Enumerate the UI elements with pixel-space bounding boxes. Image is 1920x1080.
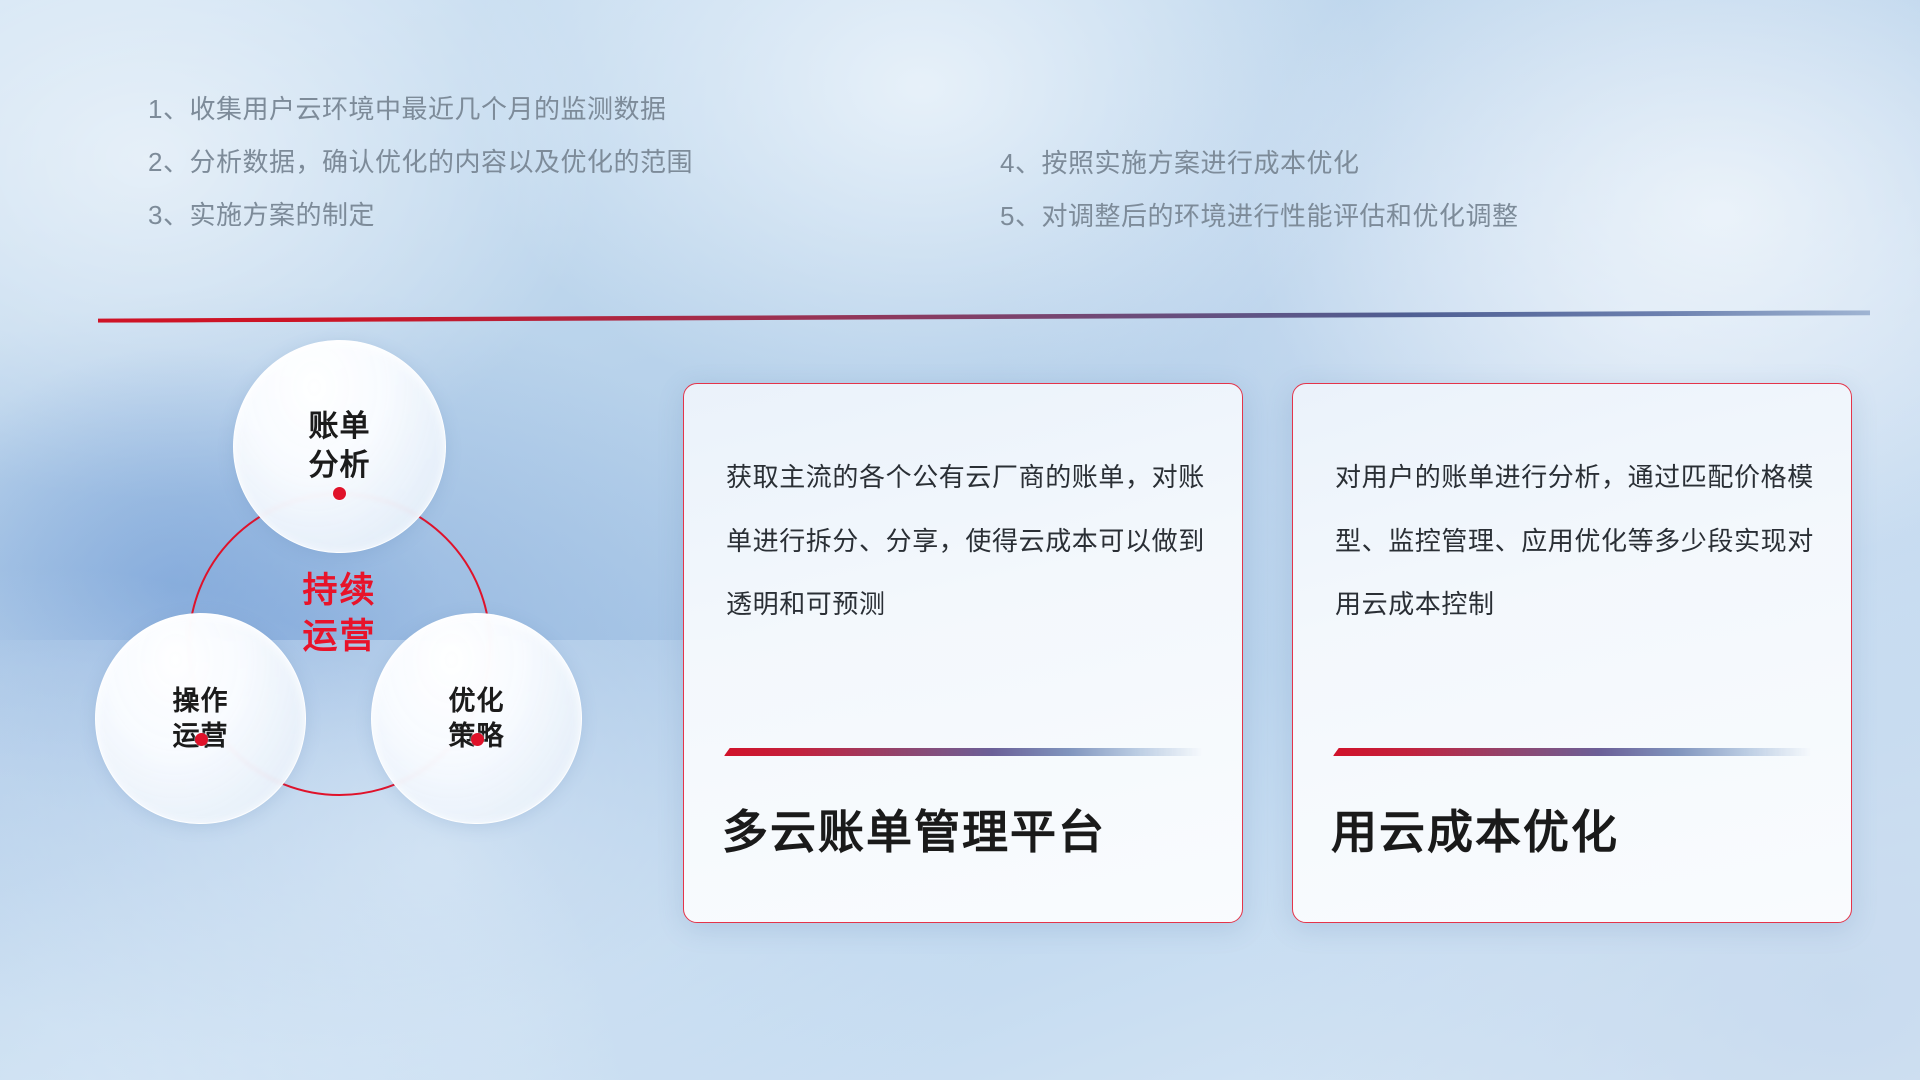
steps-list-left: 1、收集用户云环境中最近几个月的监测数据 2、分析数据，确认优化的内容以及优化的… bbox=[148, 96, 693, 255]
card-title: 多云账单管理平台 bbox=[722, 796, 1106, 862]
venn-bubble-optimization-strategy[interactable]: 优化 策略 bbox=[371, 613, 582, 824]
venn-node-dot-top bbox=[333, 487, 346, 500]
card-title: 用云成本优化 bbox=[1331, 796, 1619, 862]
venn-bubble-billing-analysis[interactable]: 账单 分析 bbox=[233, 340, 446, 553]
venn-node-dot-bottom-right bbox=[471, 733, 484, 746]
venn-bubble-operations[interactable]: 操作 运营 bbox=[95, 613, 306, 824]
venn-node-dot-bottom-left bbox=[195, 733, 208, 746]
card-description: 获取主流的各个公有云厂商的账单，对账单进行拆分、分享，使得云成本可以做到透明和可… bbox=[726, 446, 1212, 637]
feature-card-multicloud-billing[interactable]: 获取主流的各个公有云厂商的账单，对账单进行拆分、分享，使得云成本可以做到透明和可… bbox=[683, 383, 1243, 923]
step-item-1: 1、收集用户云环境中最近几个月的监测数据 bbox=[148, 96, 693, 122]
card-divider bbox=[724, 748, 1202, 756]
step-item-3: 3、实施方案的制定 bbox=[148, 202, 693, 228]
card-divider bbox=[1333, 748, 1811, 756]
venn-diagram: 持续 运营 账单 分析 操作 运营 优化 策略 bbox=[95, 355, 615, 915]
card-description: 对用户的账单进行分析，通过匹配价格模型、监控管理、应用优化等多少段实现对用云成本… bbox=[1335, 446, 1821, 637]
step-item-2: 2、分析数据，确认优化的内容以及优化的范围 bbox=[148, 149, 693, 175]
step-item-4: 4、按照实施方案进行成本优化 bbox=[1000, 150, 1518, 176]
feature-card-cloud-cost-optimization[interactable]: 对用户的账单进行分析，通过匹配价格模型、监控管理、应用优化等多少段实现对用云成本… bbox=[1292, 383, 1852, 923]
steps-list-right: 4、按照实施方案进行成本优化 5、对调整后的环境进行性能评估和优化调整 bbox=[1000, 150, 1518, 256]
step-item-5: 5、对调整后的环境进行性能评估和优化调整 bbox=[1000, 203, 1518, 229]
venn-bubble-label: 账单 分析 bbox=[309, 408, 371, 485]
